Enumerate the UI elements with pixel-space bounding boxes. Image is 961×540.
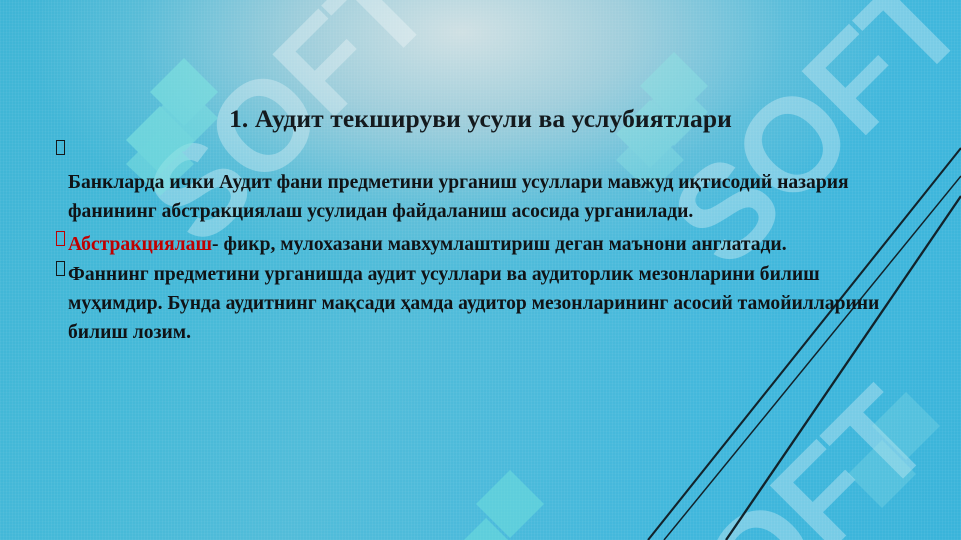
list-item: Фаннинг предметини урганишда аудит усулл… <box>56 260 912 347</box>
slide-body: Банкларда ички Аудит фани предметини ург… <box>56 140 912 348</box>
paragraph-text: Фаннинг предметини урганишда аудит усулл… <box>68 264 879 343</box>
box-bullet-icon <box>56 261 65 276</box>
slide-canvas: SOFT SOFT SOFT <box>0 0 961 540</box>
box-bullet-icon <box>56 140 65 155</box>
list-item: Банкларда ички Аудит фани предметини ург… <box>56 168 912 226</box>
box-bullet-icon <box>56 231 65 246</box>
list-item: Абстракциялаш- фикр, мулохазани мавхумла… <box>56 230 912 259</box>
paragraph-text: - фикр, мулохазани мавхумлаштириш деган … <box>212 234 787 255</box>
list-item <box>56 140 912 166</box>
page-title: 1. Аудит текшируви усули ва услубиятлари <box>0 104 961 134</box>
paragraph-text: Банкларда ички Аудит фани предметини ург… <box>68 172 849 222</box>
highlight-term: Абстракциялаш <box>68 234 212 255</box>
k-logo-icon <box>848 392 940 532</box>
k-logo-icon <box>452 470 544 540</box>
